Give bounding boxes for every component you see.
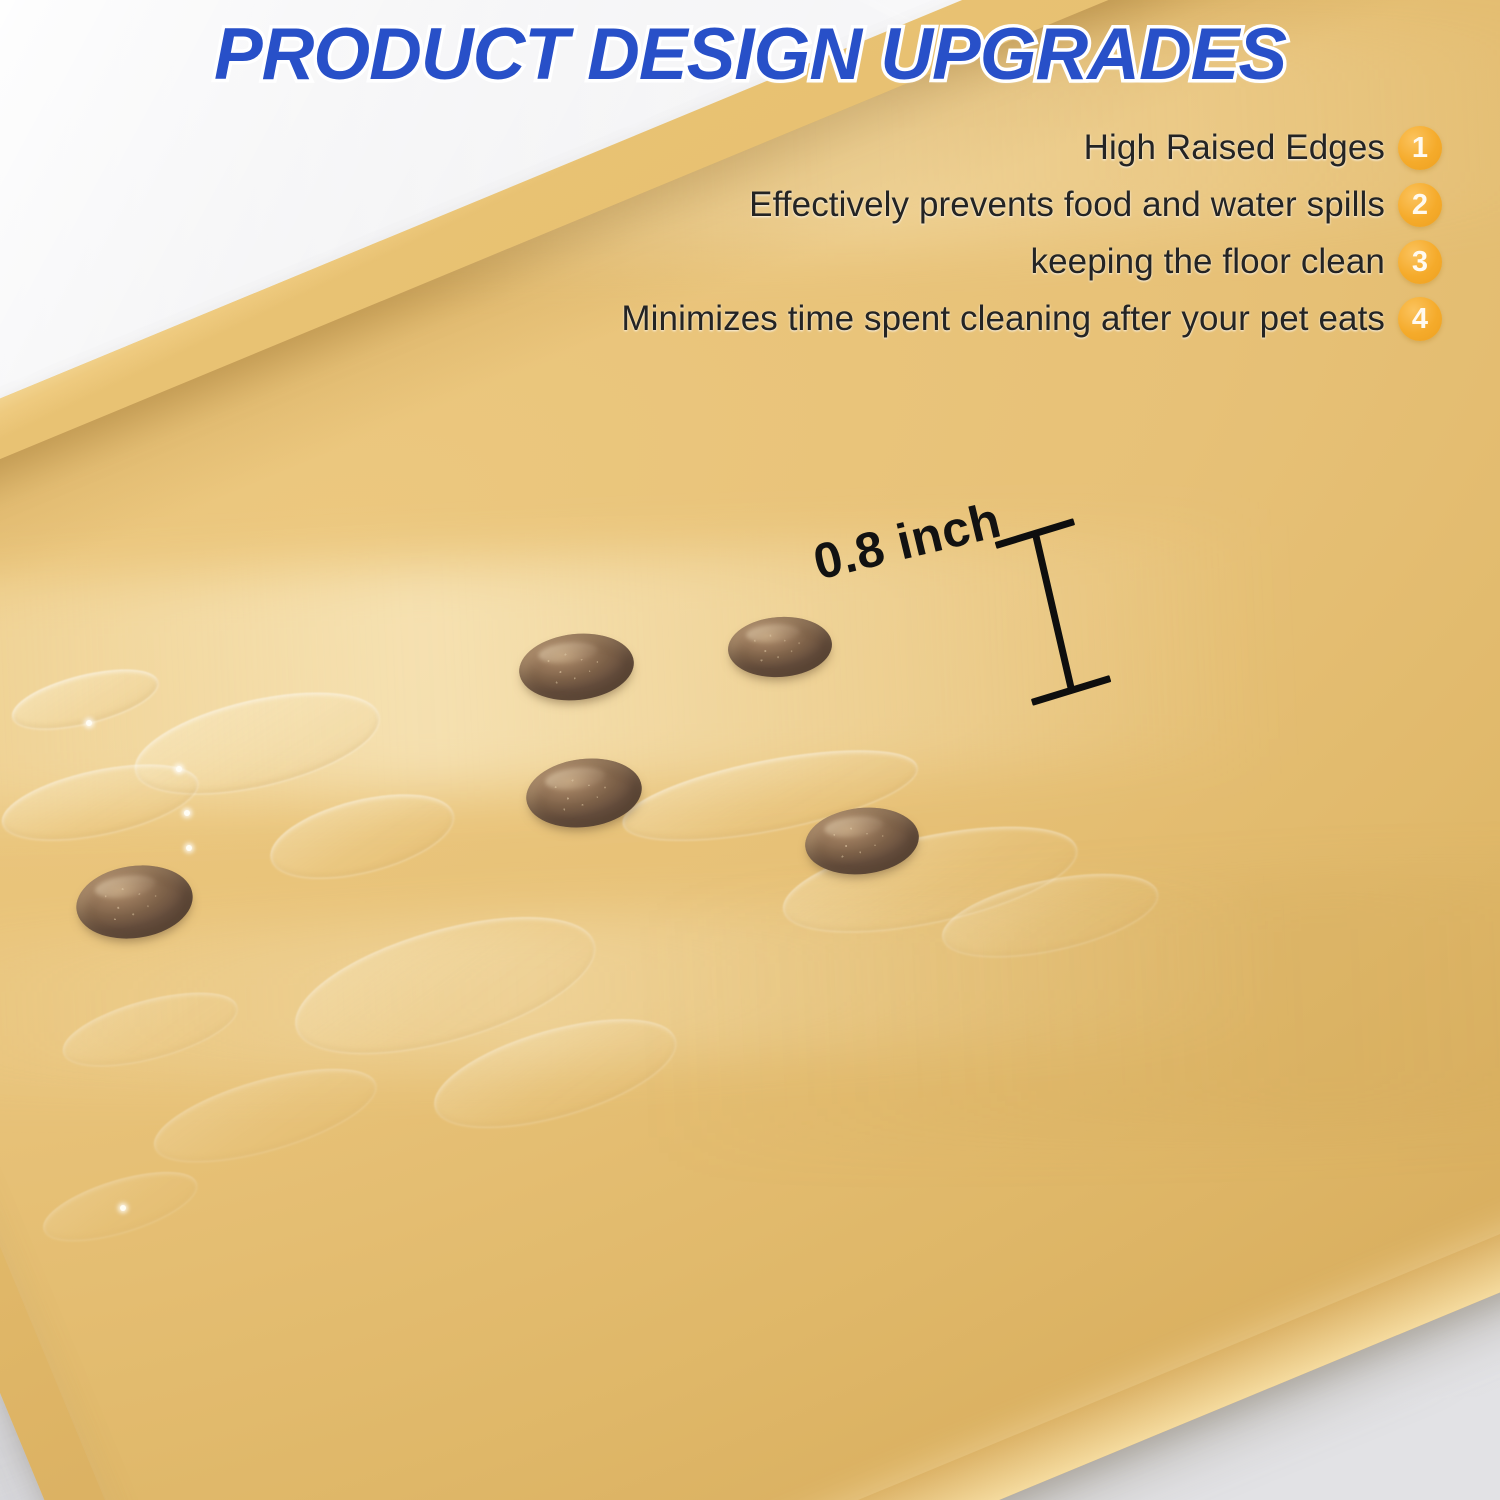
feature-list-item: Effectively prevents food and water spil…	[542, 183, 1442, 227]
feature-list-item: keeping the floor clean3	[542, 240, 1442, 284]
feature-number-badge: 1	[1398, 126, 1442, 170]
feature-list-item-label: Minimizes time spent cleaning after your…	[621, 299, 1385, 338]
product-marketing-image: 0.8 inch PRODUCT DESIGN UPGRADES High Ra…	[0, 0, 1500, 1500]
feature-number-badge: 2	[1398, 183, 1442, 227]
feature-list-item: High Raised Edges1	[542, 126, 1442, 170]
feature-number-badge: 4	[1398, 297, 1442, 341]
feature-list: High Raised Edges1Effectively prevents f…	[542, 126, 1442, 354]
feature-list-item-label: keeping the floor clean	[1031, 242, 1386, 281]
feature-number-badge: 3	[1398, 240, 1442, 284]
feature-list-item-label: High Raised Edges	[1084, 128, 1385, 167]
feature-list-item: Minimizes time spent cleaning after your…	[542, 297, 1442, 341]
page-title: PRODUCT DESIGN UPGRADES	[0, 18, 1500, 91]
feature-list-item-label: Effectively prevents food and water spil…	[749, 185, 1385, 224]
